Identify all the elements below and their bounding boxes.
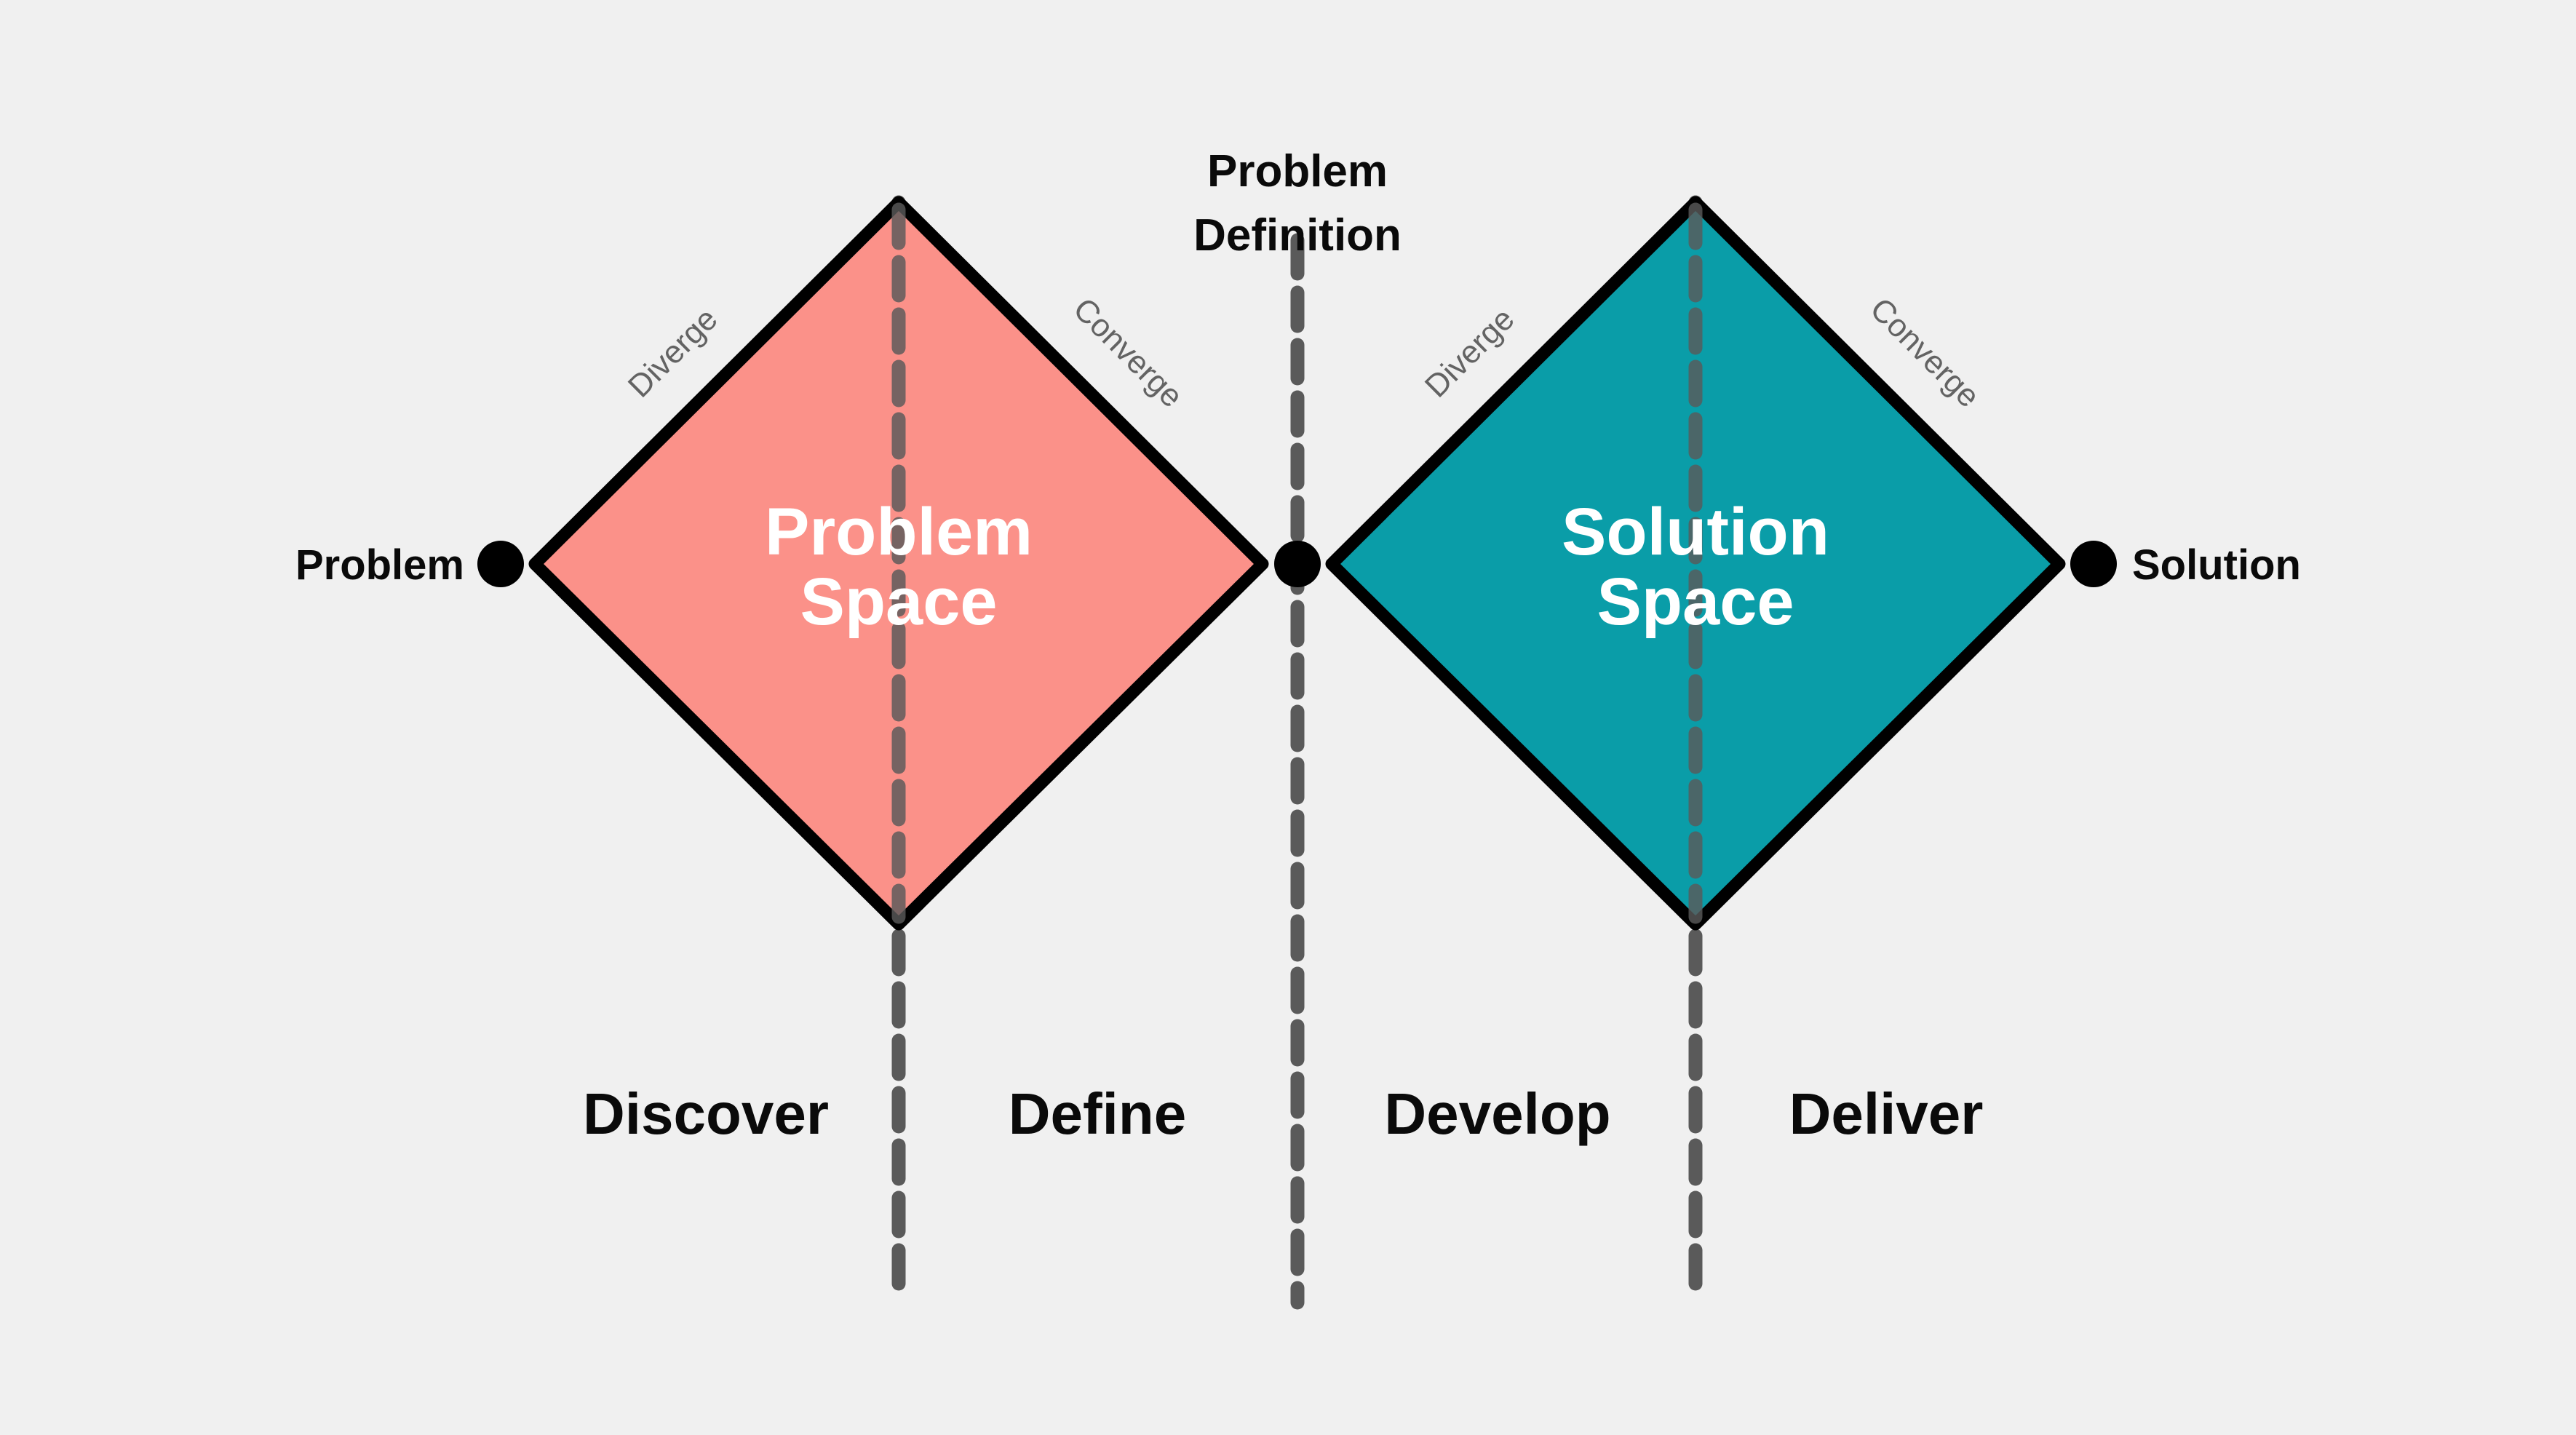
problem-definition-dot[interactable]: [1274, 541, 1321, 587]
problem-definition-label-line2: Definition: [1193, 210, 1402, 261]
stage-label-discover: Discover: [583, 1081, 829, 1146]
diamond-problem-space-title: Problem Space: [765, 495, 1033, 639]
problem-endpoint-dot[interactable]: [477, 541, 524, 587]
diamond-solution-space-title: Solution Space: [1562, 495, 1829, 639]
stage-label-deliver: Deliver: [1789, 1081, 1984, 1146]
diagram-canvas: Problem Space Solution Space Diverge Con…: [0, 0, 2576, 1435]
solution-space-title-line1: Solution: [1562, 495, 1829, 569]
problem-definition-label-line1: Problem: [1207, 146, 1388, 196]
problem-endpoint-label: Problem: [295, 541, 464, 589]
solution-endpoint-dot[interactable]: [2070, 541, 2117, 587]
stage-label-develop: Develop: [1384, 1081, 1610, 1146]
problem-space-title-line1: Problem: [765, 495, 1033, 569]
stage-label-define: Define: [1009, 1081, 1187, 1146]
double-diamond-svg: Problem Space Solution Space Diverge Con…: [0, 0, 2576, 1435]
solution-space-title-line2: Space: [1597, 565, 1794, 639]
solution-endpoint-label: Solution: [2132, 541, 2301, 589]
problem-space-title-line2: Space: [800, 565, 997, 639]
